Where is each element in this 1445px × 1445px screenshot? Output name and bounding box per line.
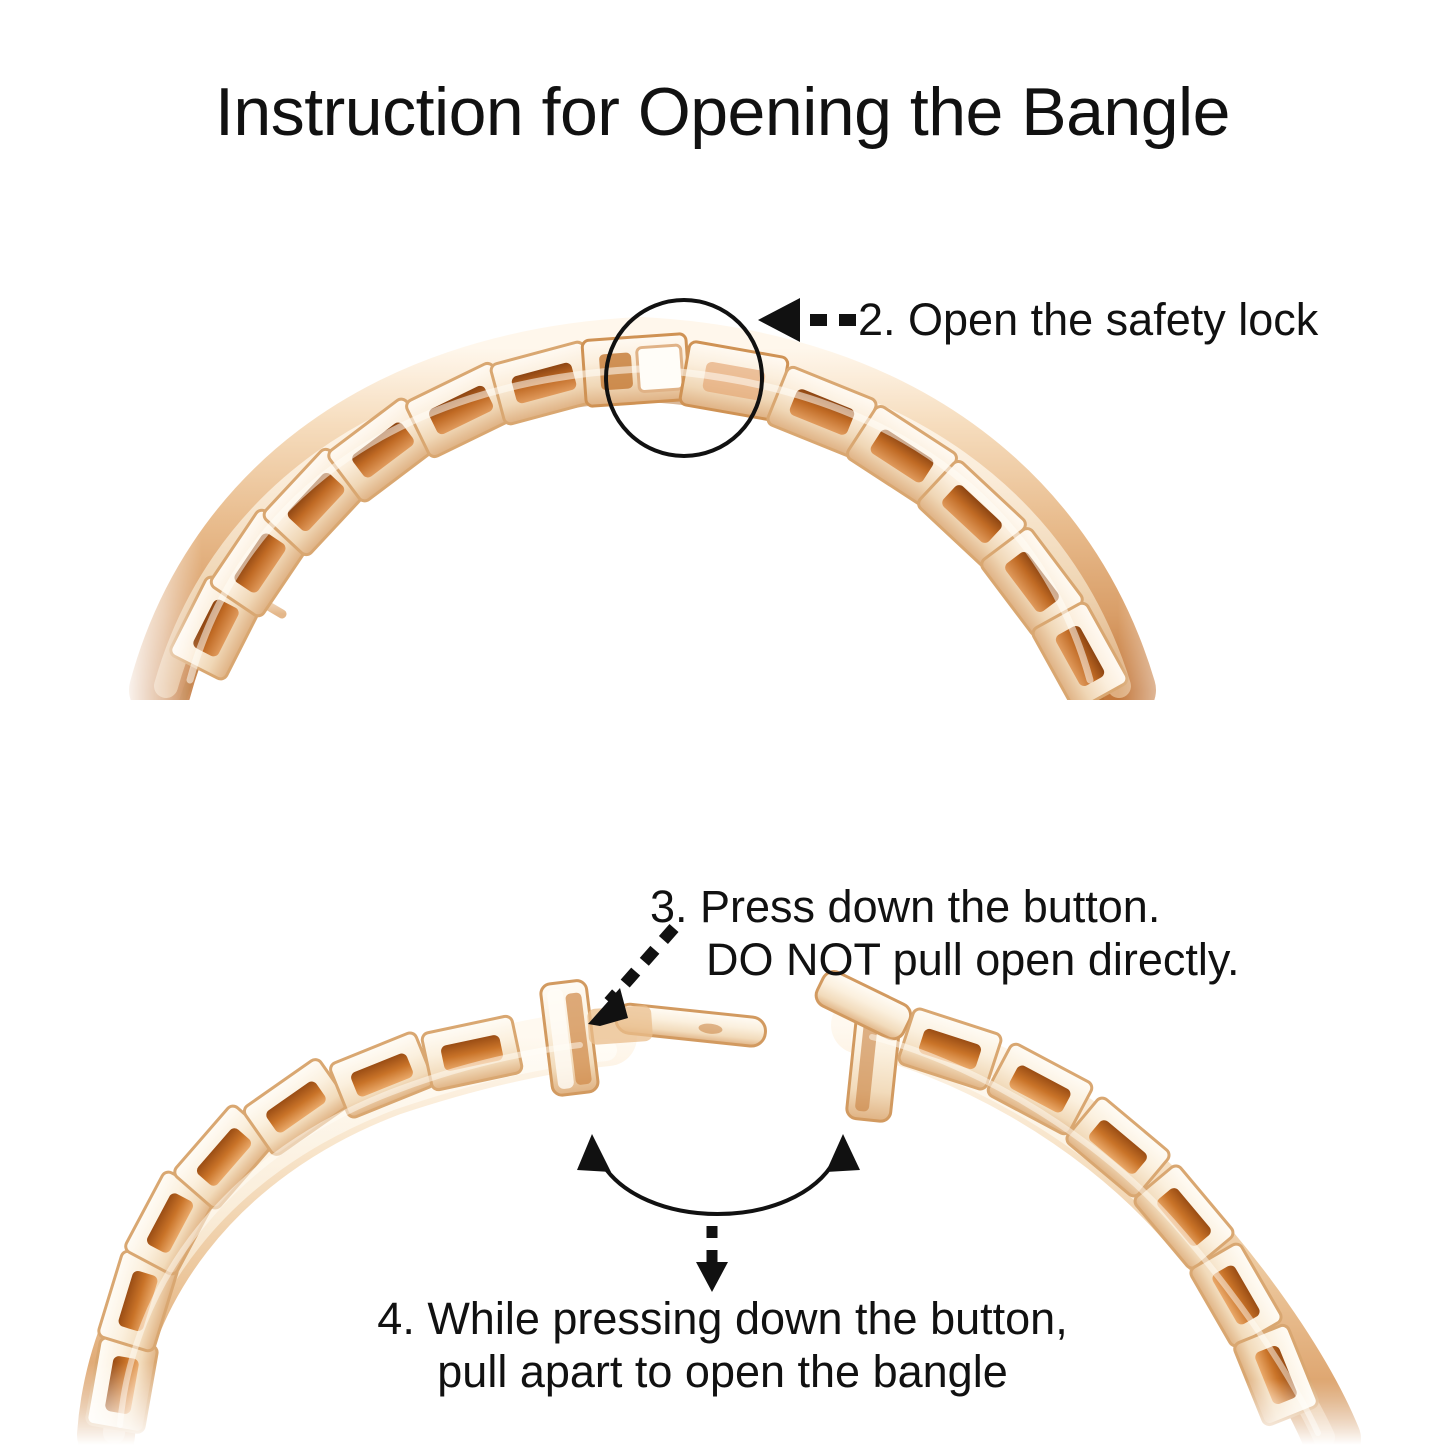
step-3-line-1: 3. Press down the button. [650,881,1160,932]
step-4-line-2: pull apart to open the bangle [0,1345,1445,1398]
step-4-line-1: 4. While pressing down the button, [0,1292,1445,1345]
step-2-caption: 2. Open the safety lock [858,293,1318,346]
step-2-text: 2. Open the safety lock [858,294,1318,345]
step-4-caption: 4. While pressing down the button, pull … [0,1292,1445,1398]
instruction-page: Instruction for Opening the Bangle [0,0,1445,1445]
page-title: Instruction for Opening the Bangle [0,78,1445,146]
step-3-caption: 3. Press down the button. DO NOT pull op… [650,880,1240,986]
step-3-line-2: DO NOT pull open directly. [650,933,1240,986]
